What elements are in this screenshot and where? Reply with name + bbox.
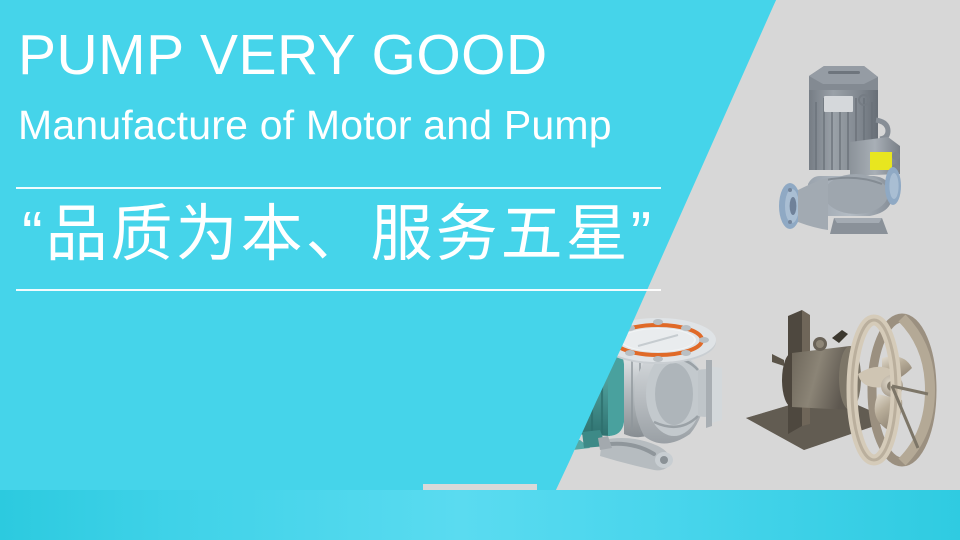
page-title: PUMP VERY GOOD — [18, 27, 548, 84]
marketing-banner: PUMP VERY GOOD Manufacture of Motor and … — [0, 0, 960, 540]
slogan-text: “品质为本、服务五星” — [22, 198, 654, 272]
vertical-inline-pump-icon — [768, 58, 938, 253]
submersible-mixer-icon — [742, 298, 957, 490]
divider-top — [16, 187, 661, 189]
product-image-vertical-inline-pump — [768, 58, 938, 253]
divider-bottom — [16, 289, 661, 291]
bottom-gradient-band — [0, 490, 960, 540]
product-image-submersible-mixer — [742, 298, 957, 490]
page-subtitle: Manufacture of Motor and Pump — [18, 105, 612, 146]
